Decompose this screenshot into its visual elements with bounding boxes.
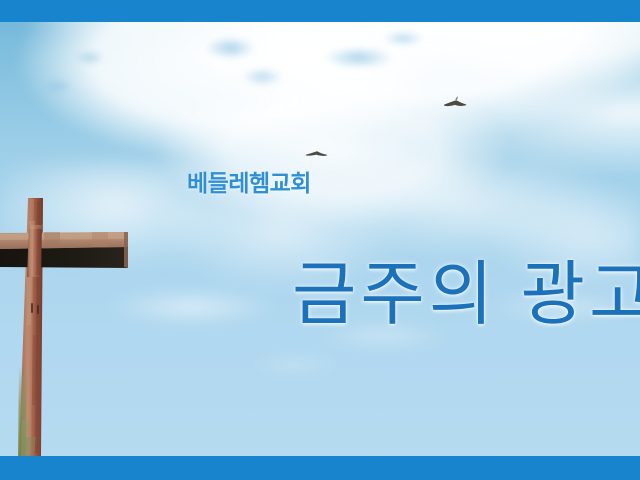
page-title: 금주의 광고 (292, 258, 640, 332)
bottom-accent-band (0, 456, 640, 480)
bird-upper-right-icon (443, 94, 469, 110)
announcement-slide: 베들레헴교회 금주의 광고 (0, 0, 640, 480)
top-accent-band (0, 0, 640, 22)
wooden-cross (0, 185, 150, 465)
church-name-label: 베들레헴교회 (187, 164, 311, 198)
cross-beam-front-face (0, 247, 128, 268)
bird-center-icon (305, 146, 329, 159)
